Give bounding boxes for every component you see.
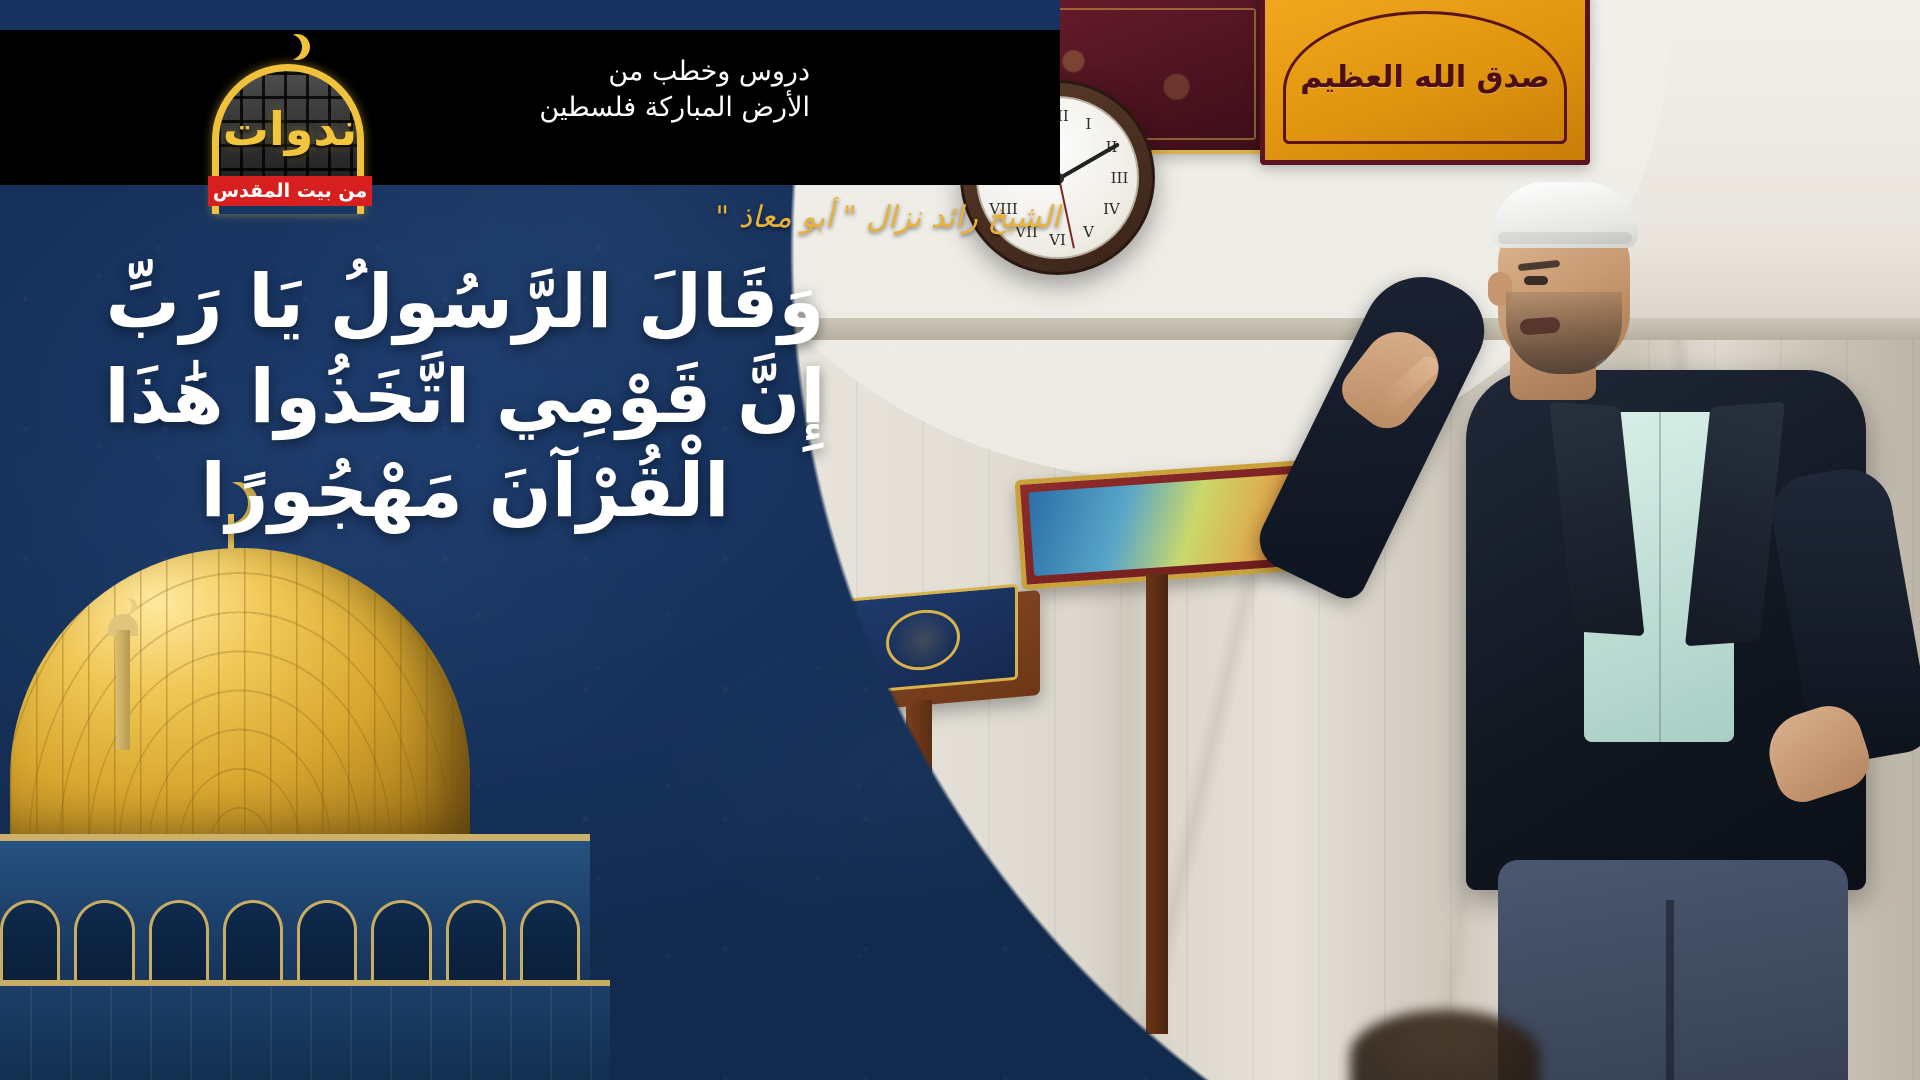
- plaque-art: [1028, 474, 1297, 576]
- logo-wordmark: ندوات: [200, 102, 380, 156]
- tagline-line-1: دروس وخطب من: [430, 54, 810, 90]
- dome-arcade: [0, 900, 590, 984]
- minaret: [116, 630, 130, 750]
- wall-plaque-text: صدق الله العظيم: [1265, 0, 1585, 160]
- speaker-hand: [1333, 317, 1450, 438]
- plaque-pole: [1146, 574, 1168, 1034]
- speaker-pointing-finger: [1374, 352, 1442, 416]
- golden-dome: [10, 548, 470, 848]
- crescent-icon: [276, 34, 302, 60]
- thumbnail-canvas: صدق الله العظيم XII I II III IV V VI VII…: [0, 0, 1920, 1080]
- quran-verse-text: وَقَالَ الرَّسُولُ يَا رَبِّ إِنَّ قَوْم…: [70, 255, 860, 539]
- lectern-foot: [850, 992, 990, 1008]
- channel-header-bar: ندوات من بيت المقدس دروس وخطب من الأرض ا…: [0, 30, 1060, 185]
- logo-red-banner: من بيت المقدس: [208, 176, 372, 206]
- channel-logo: ندوات من بيت المقدس: [200, 28, 380, 213]
- top-navy-strip: [0, 0, 1060, 30]
- wall-banner-gold: صدق الله العظيم: [1260, 0, 1590, 165]
- lectern-stem: [906, 700, 932, 1000]
- dome-of-the-rock: [0, 560, 670, 1080]
- quran-lectern: [810, 600, 1040, 1020]
- speaker-figure: [1270, 170, 1890, 1080]
- minaret-crescent-icon: [116, 598, 132, 614]
- speaker-prayer-cap: [1492, 182, 1638, 248]
- tagline-line-2: الأرض المباركة فلسطين: [430, 90, 810, 126]
- quran-book: [828, 584, 1018, 697]
- speaker-name-label: الشيخ رائد نزال " أبو معاذ ": [640, 200, 1060, 235]
- speaker-trousers: [1498, 860, 1848, 1080]
- channel-tagline: دروس وخطب من الأرض المباركة فلسطين: [430, 54, 810, 127]
- dome-lower-wall: [0, 980, 610, 1080]
- quran-medallion: [886, 607, 960, 673]
- speaker-eye: [1524, 276, 1548, 285]
- speaker-raised-arm: [1250, 257, 1501, 605]
- speaker-eyebrow: [1518, 260, 1561, 271]
